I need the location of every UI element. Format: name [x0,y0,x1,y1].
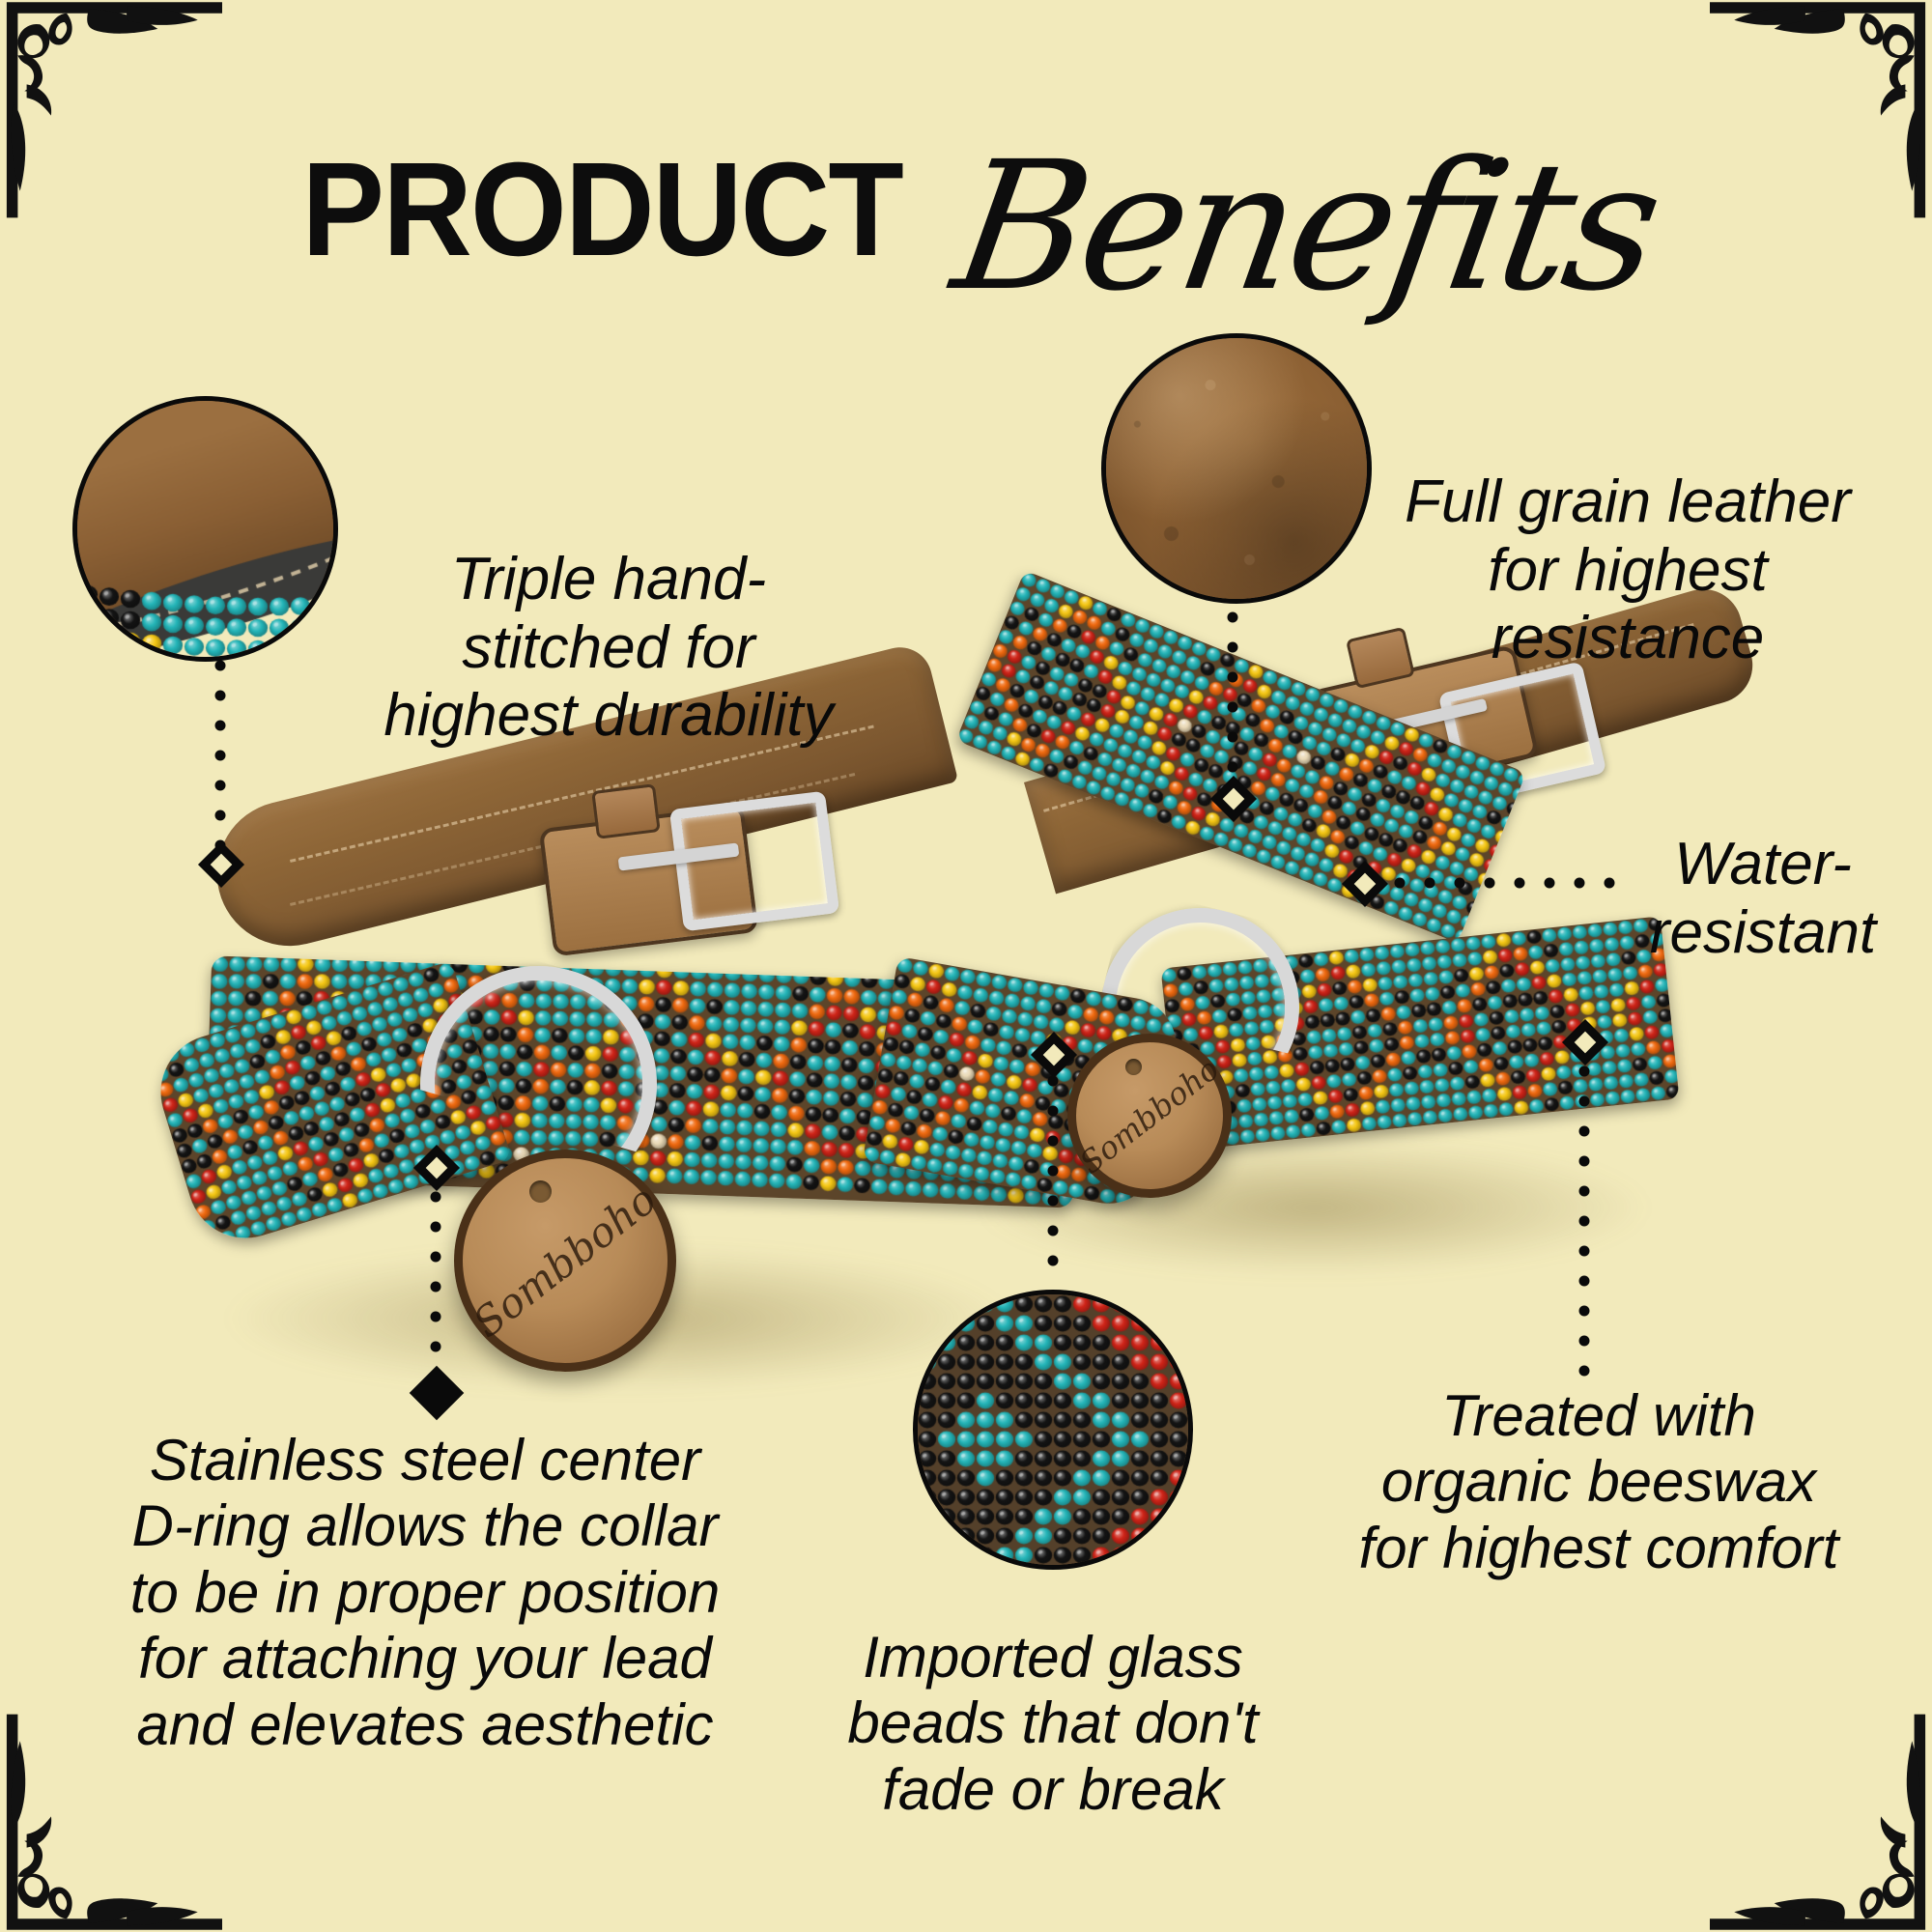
callout-line: Water- [1604,831,1922,899]
detail-bubble-leather-grain [1101,333,1372,604]
callout-line: resistant [1604,899,1922,968]
callout-line: fade or break [802,1757,1304,1823]
callout-line: for attaching your lead [87,1626,763,1691]
callout-line: D-ring allows the collar [87,1493,763,1559]
callout-triple-hand-stitched: Triple hand- stitched for highest durabi… [357,546,860,751]
tag-brand-text: Sombboho [1073,1050,1227,1181]
callout-line: highest durability [357,682,860,751]
callout-line: stitched for [357,614,860,683]
callout-line: Treated with [1285,1383,1913,1449]
tag-brand-name: Sombboho [1076,1042,1223,1189]
leather-brand-tag: Sombboho [454,1150,676,1372]
callout-line: Stainless steel center [87,1428,763,1493]
callout-line: Triple hand- [357,546,860,614]
leader-line-full-grain-leather [1227,609,1238,792]
leader-line-water-resistant [1391,877,1633,889]
tag-brand-text: Sombboho [465,1175,666,1346]
leader-line-beeswax [1578,1063,1590,1381]
leather-brand-tag: Sombboho [1067,1034,1232,1198]
callout-organic-beeswax: Treated with organic beeswax for highest… [1285,1383,1913,1581]
leader-line-triple-stitched [214,657,226,855]
callout-line: resistance [1372,605,1884,673]
detail-bubble-stitched-edge [72,396,338,662]
detail-bubble-glass-beads [913,1290,1193,1570]
callout-line: for highest comfort [1285,1516,1913,1581]
infographic-canvas: PRODUCTBenefits SombbohoSombboho Triple … [0,0,1932,1932]
callout-line: beads that don't [802,1690,1304,1756]
callout-line: Full grain leather [1372,469,1884,537]
callout-line: to be in proper position [87,1560,763,1626]
tag-brand-name: Sombboho [463,1158,668,1363]
callout-full-grain-leather: Full grain leather for highest resistanc… [1372,469,1884,673]
callout-line: and elevates aesthetic [87,1692,763,1758]
callout-water-resistant: Water- resistant [1604,831,1922,967]
leader-line-glass-beads [1047,1072,1059,1280]
callout-line: for highest [1372,537,1884,606]
callout-line: Imported glass [802,1625,1304,1690]
callout-stainless-steel-d-ring: Stainless steel center D-ring allows the… [87,1428,763,1758]
leader-line-d-ring [430,1188,441,1381]
callout-imported-glass-beads: Imported glass beads that don't fade or … [802,1625,1304,1823]
front-collar-keeper [591,783,661,839]
callout-line: organic beeswax [1285,1449,1913,1515]
